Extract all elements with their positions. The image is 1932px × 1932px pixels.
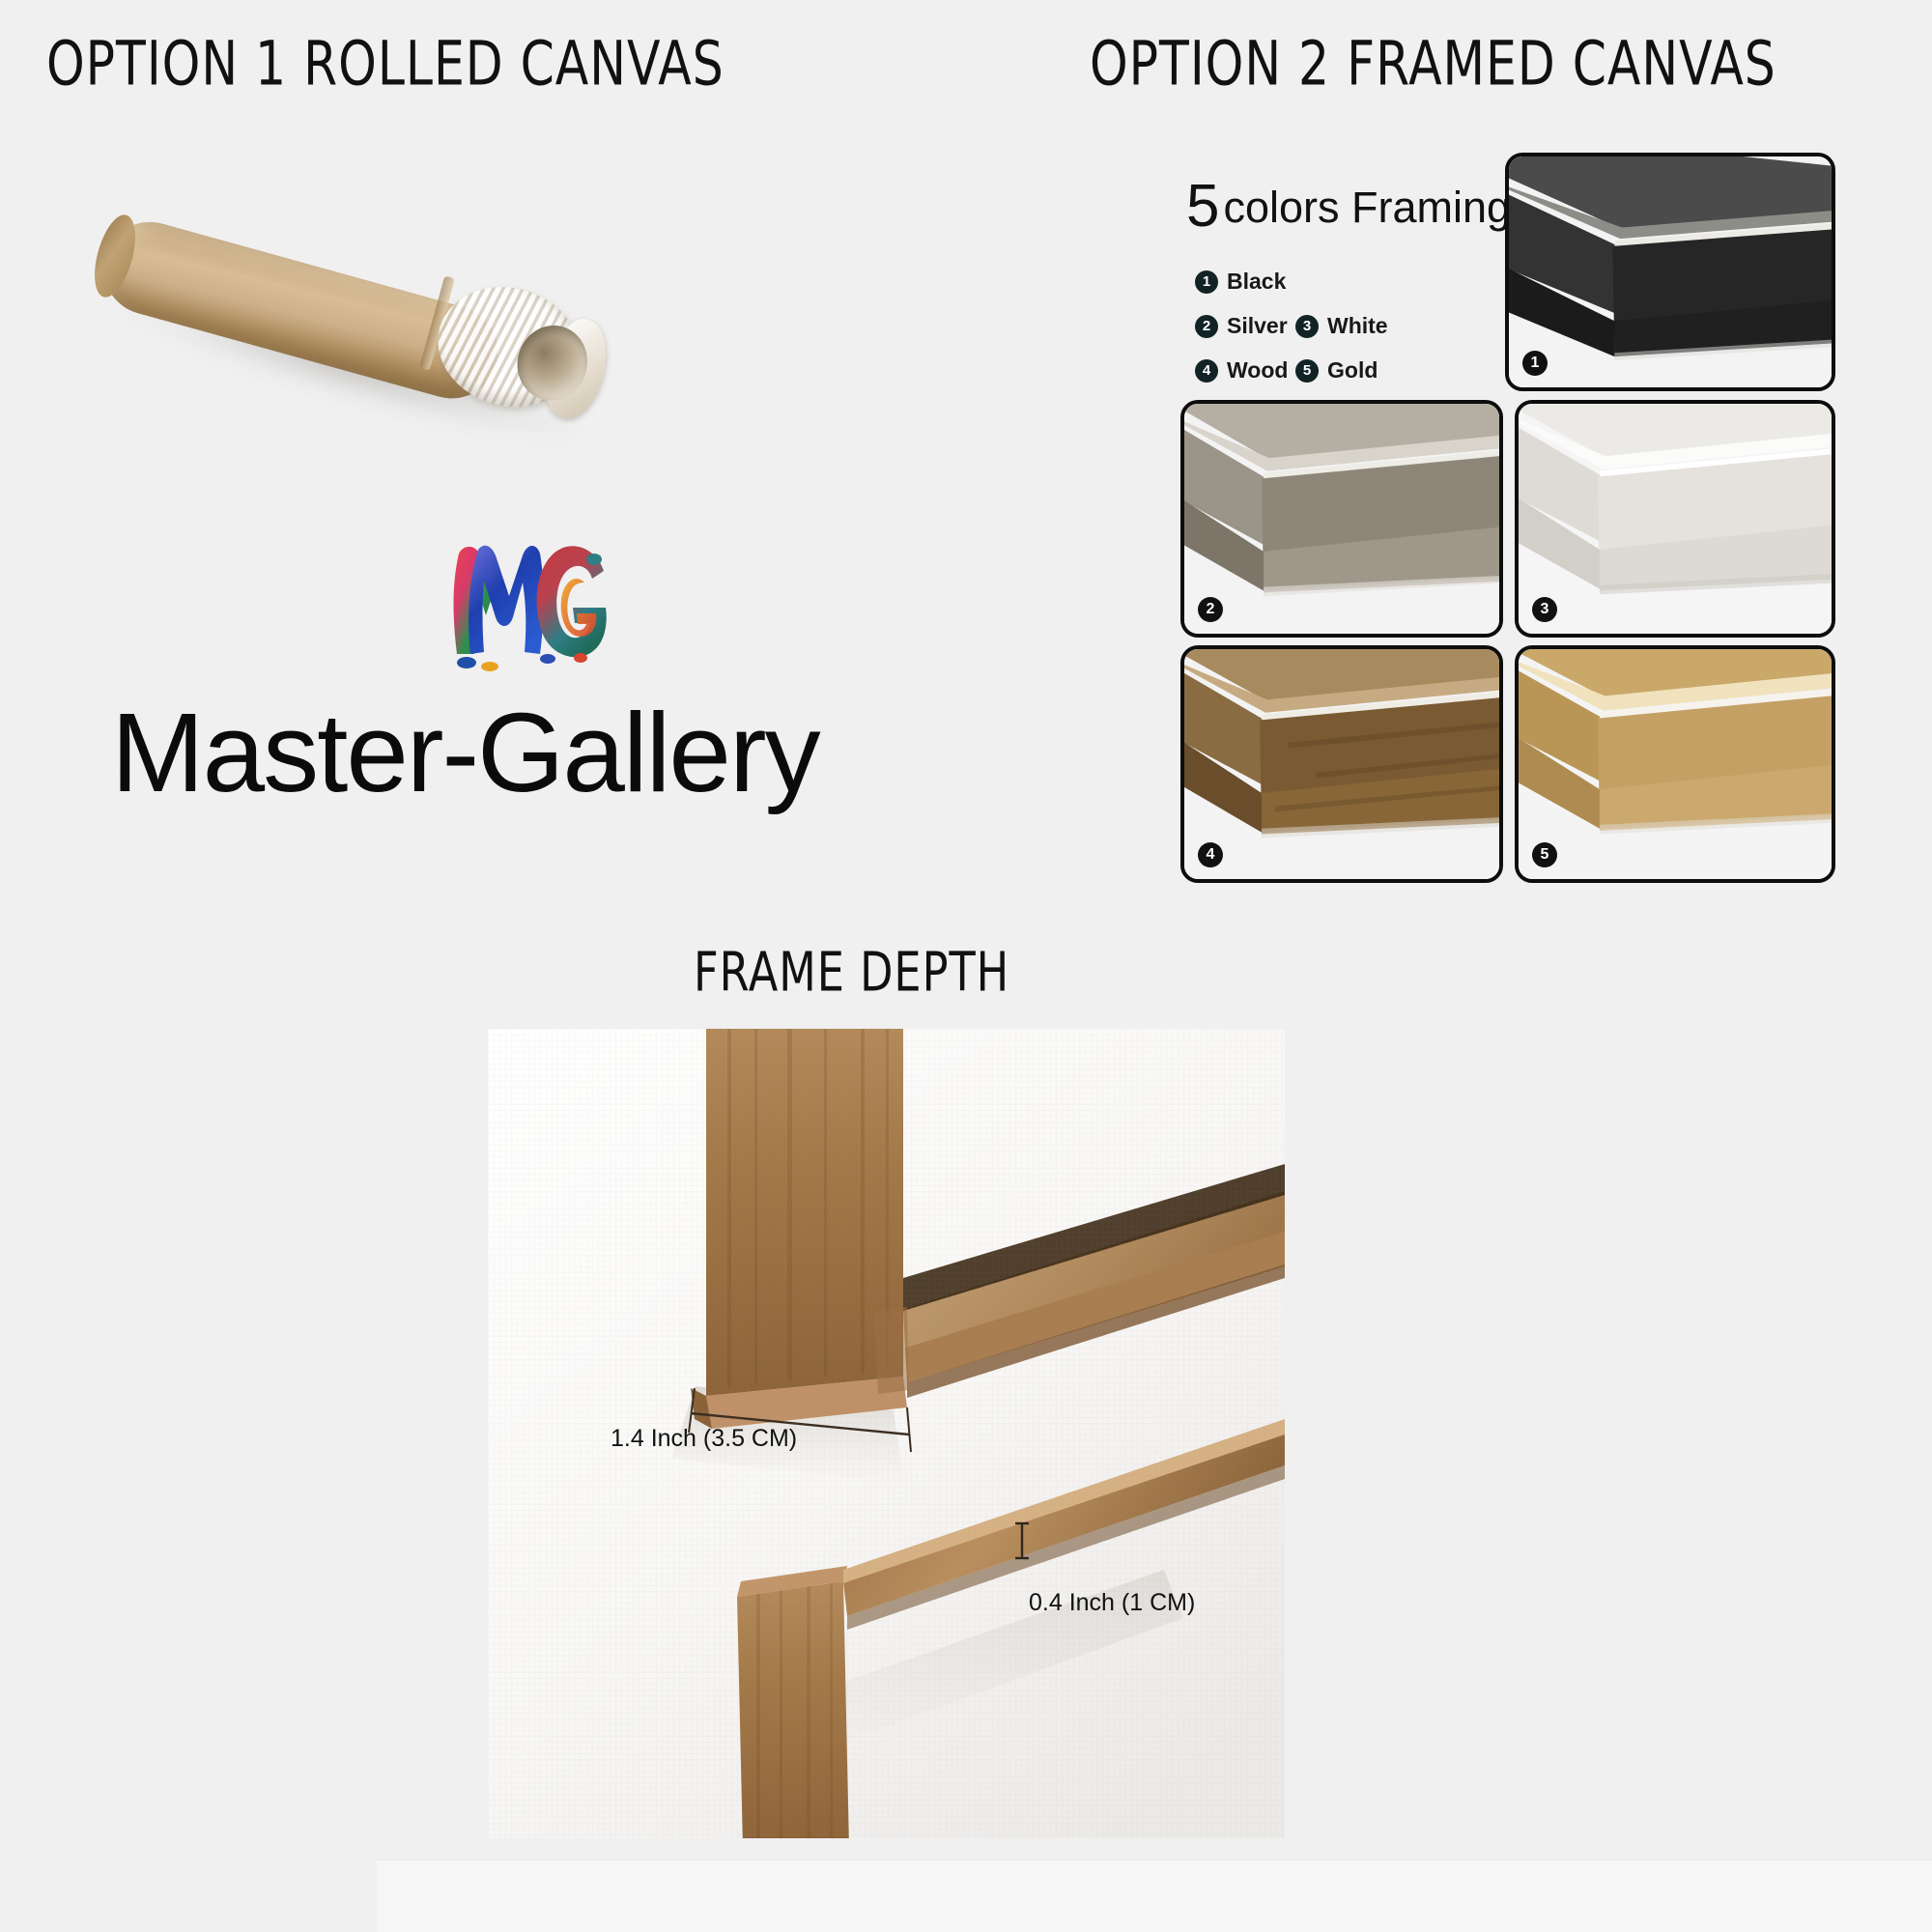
heading-frame-depth: FRAME DEPTH (694, 940, 1009, 1004)
card-number-4: 4 (1198, 842, 1223, 867)
badge-3: 3 (1295, 315, 1319, 338)
legend-item-white: 3 White (1295, 313, 1396, 339)
dimension-label-width: 1.4 Inch (3.5 CM) (611, 1425, 797, 1453)
badge-2: 2 (1195, 315, 1218, 338)
badge-4: 4 (1195, 359, 1218, 383)
badge-1: 1 (1195, 270, 1218, 294)
framing-colors-title: 5colors Framing (1186, 172, 1511, 241)
rolled-canvas-tube-image (92, 159, 642, 449)
dimension-label-thickness: 0.4 Inch (1 CM) (1029, 1589, 1195, 1617)
card-number-3: 3 (1532, 597, 1557, 622)
legend-label-gold: Gold (1327, 357, 1378, 384)
frame-sample-card-white[interactable]: 3 (1515, 400, 1835, 638)
legend-row: 2 Silver 3 White (1195, 313, 1485, 339)
frame-sample-card-black[interactable]: 1 (1505, 153, 1835, 391)
badge-5: 5 (1295, 359, 1319, 383)
card-number-5: 5 (1532, 842, 1557, 867)
legend-label-black: Black (1227, 269, 1286, 295)
legend-row: 1 Black (1195, 269, 1485, 295)
legend-row: 4 Wood 5 Gold (1195, 357, 1485, 384)
legend-item-wood: 4 Wood (1195, 357, 1295, 384)
legend-item-gold: 5 Gold (1295, 357, 1396, 384)
frame-sample-card-gold[interactable]: 5 (1515, 645, 1835, 883)
card-number-1: 1 (1522, 351, 1548, 376)
frame-sample-card-silver[interactable]: 2 (1180, 400, 1503, 638)
mg-logo-icon (440, 526, 623, 681)
frame-sample-card-wood[interactable]: 4 (1180, 645, 1503, 883)
framing-count: 5 (1186, 173, 1219, 240)
heading-option-2: OPTION 2 FRAMED CANVAS (1090, 29, 1776, 99)
legend-label-wood: Wood (1227, 357, 1288, 384)
legend-item-black: 1 Black (1195, 269, 1295, 295)
frame-depth-photo: 1.4 Inch (3.5 CM) 0.4 Inch (1 CM) (488, 1029, 1285, 1838)
card-number-2: 2 (1198, 597, 1223, 622)
brand-name: Master-Gallery (111, 688, 819, 817)
legend-label-white: White (1327, 313, 1388, 339)
framing-color-legend: 1 Black 2 Silver 3 White 4 Wood 5 Gold (1195, 269, 1485, 402)
bottom-panel (377, 1860, 1932, 1932)
framing-title-rest: colors Framing (1223, 183, 1511, 232)
legend-item-silver: 2 Silver (1195, 313, 1295, 339)
legend-label-silver: Silver (1227, 313, 1288, 339)
heading-option-1: OPTION 1 ROLLED CANVAS (46, 29, 724, 99)
